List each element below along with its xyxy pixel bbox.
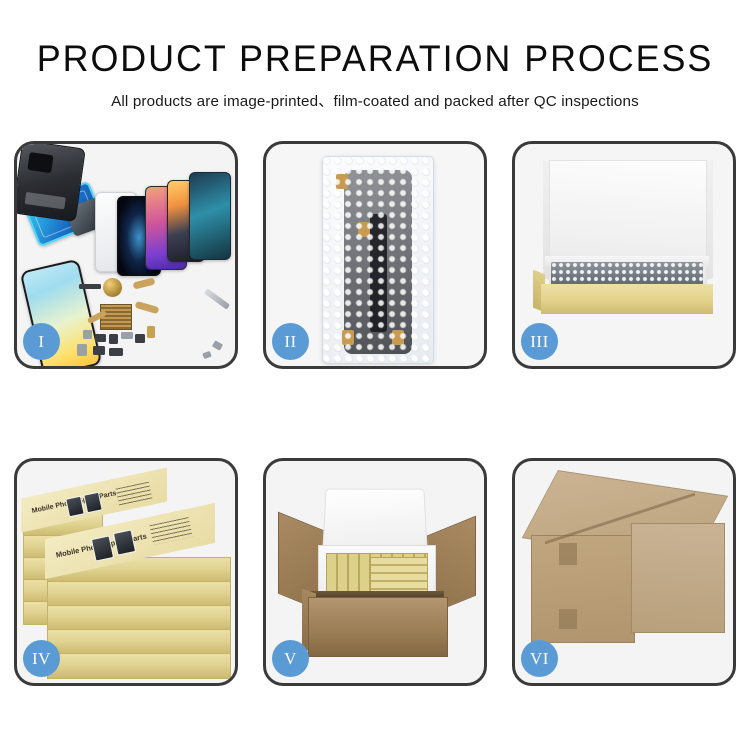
tweezers-tool bbox=[204, 288, 230, 309]
connector-tape-top bbox=[336, 174, 348, 189]
screw-part-2 bbox=[202, 351, 212, 359]
small-part-h bbox=[109, 348, 123, 356]
stacked-box-r5 bbox=[47, 653, 231, 679]
connector-tape-bottom-right bbox=[392, 330, 404, 345]
step-badge-3: III bbox=[521, 323, 558, 360]
wrapped-flex-cable bbox=[370, 214, 387, 332]
small-part-e bbox=[135, 334, 145, 343]
step-badge-4: IV bbox=[23, 640, 60, 677]
step-panel-2: II bbox=[263, 141, 487, 369]
step-badge-6: VI bbox=[521, 640, 558, 677]
connector-tape-mid bbox=[358, 222, 370, 237]
connector-tape-bottom-left bbox=[342, 330, 354, 345]
vibration-motor-part bbox=[103, 278, 122, 297]
stacked-box-r2 bbox=[47, 581, 231, 607]
step-image-5: V bbox=[266, 461, 484, 683]
step-panel-4: Mobile Phone Spare Parts Mobile Phone Sp… bbox=[14, 458, 238, 686]
stacked-box-r4 bbox=[47, 629, 231, 655]
step-image-1: I bbox=[17, 144, 235, 366]
phone-display-teal bbox=[189, 172, 231, 260]
carton-body-front bbox=[308, 597, 448, 657]
foam-lid bbox=[322, 489, 428, 552]
phone-rear-housing bbox=[17, 144, 86, 222]
step-panel-6: VI bbox=[512, 458, 736, 686]
small-part-a bbox=[83, 330, 92, 339]
logic-board-chip bbox=[100, 304, 132, 330]
page-subtitle: All products are image-printed、film-coat… bbox=[0, 89, 750, 111]
step-image-3: III bbox=[515, 144, 733, 366]
packed-boxes-stack bbox=[370, 557, 428, 595]
sim-tray-part bbox=[147, 326, 155, 338]
small-part-f bbox=[77, 344, 87, 356]
sealed-carton-front bbox=[531, 535, 635, 643]
process-steps-grid: I II bbox=[14, 141, 736, 686]
step-image-6: VI bbox=[515, 461, 733, 683]
step-badge-5: V bbox=[272, 640, 309, 677]
sealed-carton-side bbox=[631, 523, 725, 633]
small-part-b bbox=[95, 334, 106, 342]
flex-cable-2 bbox=[135, 301, 160, 314]
small-part-bar bbox=[79, 284, 101, 289]
carton-tape-upper bbox=[559, 543, 577, 565]
step-badge-2: II bbox=[272, 323, 309, 360]
small-part-d bbox=[121, 332, 133, 339]
product-preparation-infographic: PRODUCT PREPARATION PROCESS All products… bbox=[0, 0, 750, 750]
small-part-g bbox=[93, 346, 105, 355]
step-panel-1: I bbox=[14, 141, 238, 369]
carton-tape-lower bbox=[559, 609, 577, 629]
stacked-box-r3 bbox=[47, 605, 231, 631]
flex-cable-1 bbox=[132, 277, 155, 289]
page-title: PRODUCT PREPARATION PROCESS bbox=[11, 38, 739, 80]
box-body-front bbox=[541, 284, 713, 314]
step-panel-3: III bbox=[512, 141, 736, 369]
step-panel-5: V bbox=[263, 458, 487, 686]
screw-part-1 bbox=[212, 340, 223, 351]
step-image-4: Mobile Phone Spare Parts Mobile Phone Sp… bbox=[17, 461, 235, 683]
step-badge-1: I bbox=[23, 323, 60, 360]
small-part-c bbox=[109, 334, 118, 344]
step-image-2: II bbox=[266, 144, 484, 366]
header: PRODUCT PREPARATION PROCESS All products… bbox=[0, 38, 750, 111]
